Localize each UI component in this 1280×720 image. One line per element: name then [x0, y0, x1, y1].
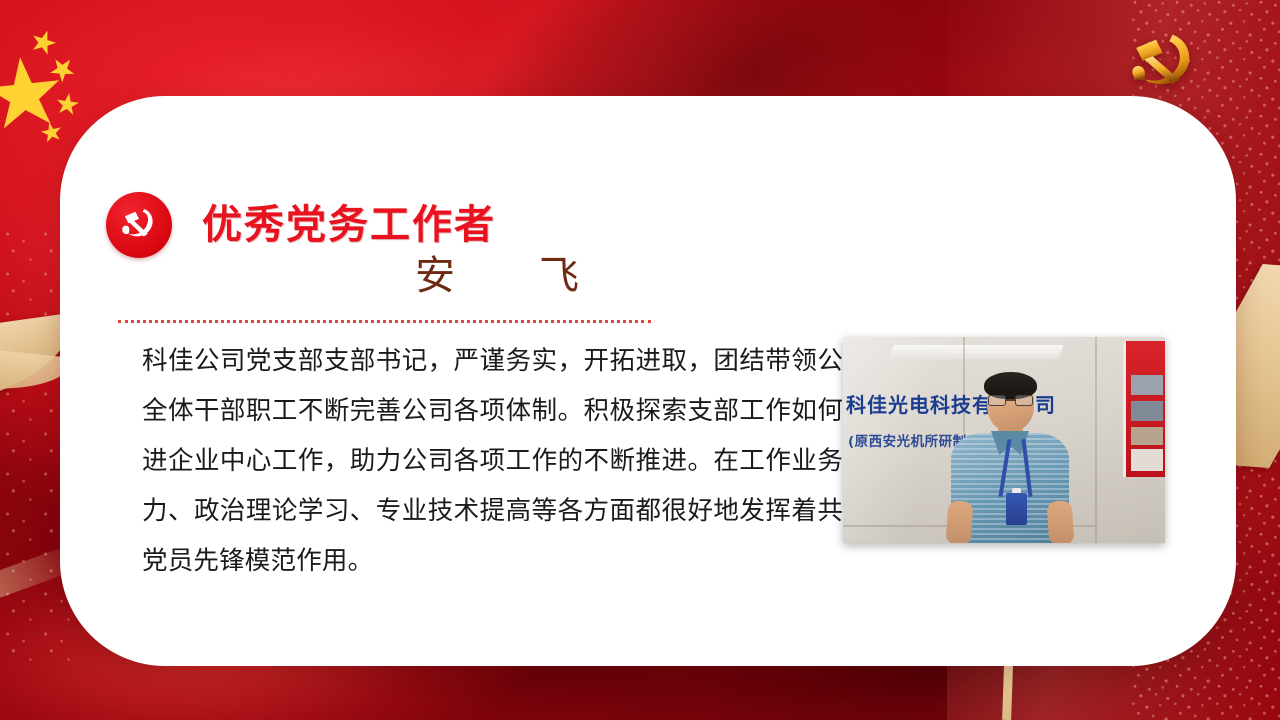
party-emblem-gold-icon	[1119, 28, 1203, 96]
photo-person	[951, 375, 1069, 543]
page-title: 优秀党务工作者	[202, 205, 496, 245]
photo-notice-item	[1131, 375, 1163, 395]
awardee-photo: 科佳光电科技有限公司 (原西安光机所研制工厂)	[843, 337, 1165, 543]
photo-notice-item	[1131, 427, 1163, 445]
photo-ceiling-light	[888, 345, 1063, 359]
person-arm-right	[1046, 500, 1074, 543]
party-emblem-badge	[106, 192, 172, 258]
slide-root: 优秀党务工作者 安 飞 科佳公司党支部支部书记，严谨务实，开拓进取，团结带领公司…	[0, 0, 1280, 720]
photo-wall-seam-vertical	[1095, 337, 1097, 543]
photo-notice-item	[1131, 449, 1163, 471]
person-glasses-icon	[988, 395, 1033, 406]
photo-notice-item	[1131, 401, 1163, 421]
hammer-sickle-icon	[117, 203, 161, 247]
content-card: 优秀党务工作者 安 飞 科佳公司党支部支部书记，严谨务实，开拓进取，团结带领公司…	[60, 96, 1236, 666]
award-header: 优秀党务工作者	[106, 192, 496, 258]
person-id-badge	[1006, 493, 1027, 525]
awardee-name: 安 飞	[415, 256, 601, 296]
person-arm-left	[945, 500, 973, 543]
dotted-divider	[118, 320, 651, 323]
award-description: 科佳公司党支部支部书记，严谨务实，开拓进取，团结带领公司全体干部职工不断完善公司…	[142, 336, 869, 586]
photo-notice-board	[1123, 341, 1165, 477]
